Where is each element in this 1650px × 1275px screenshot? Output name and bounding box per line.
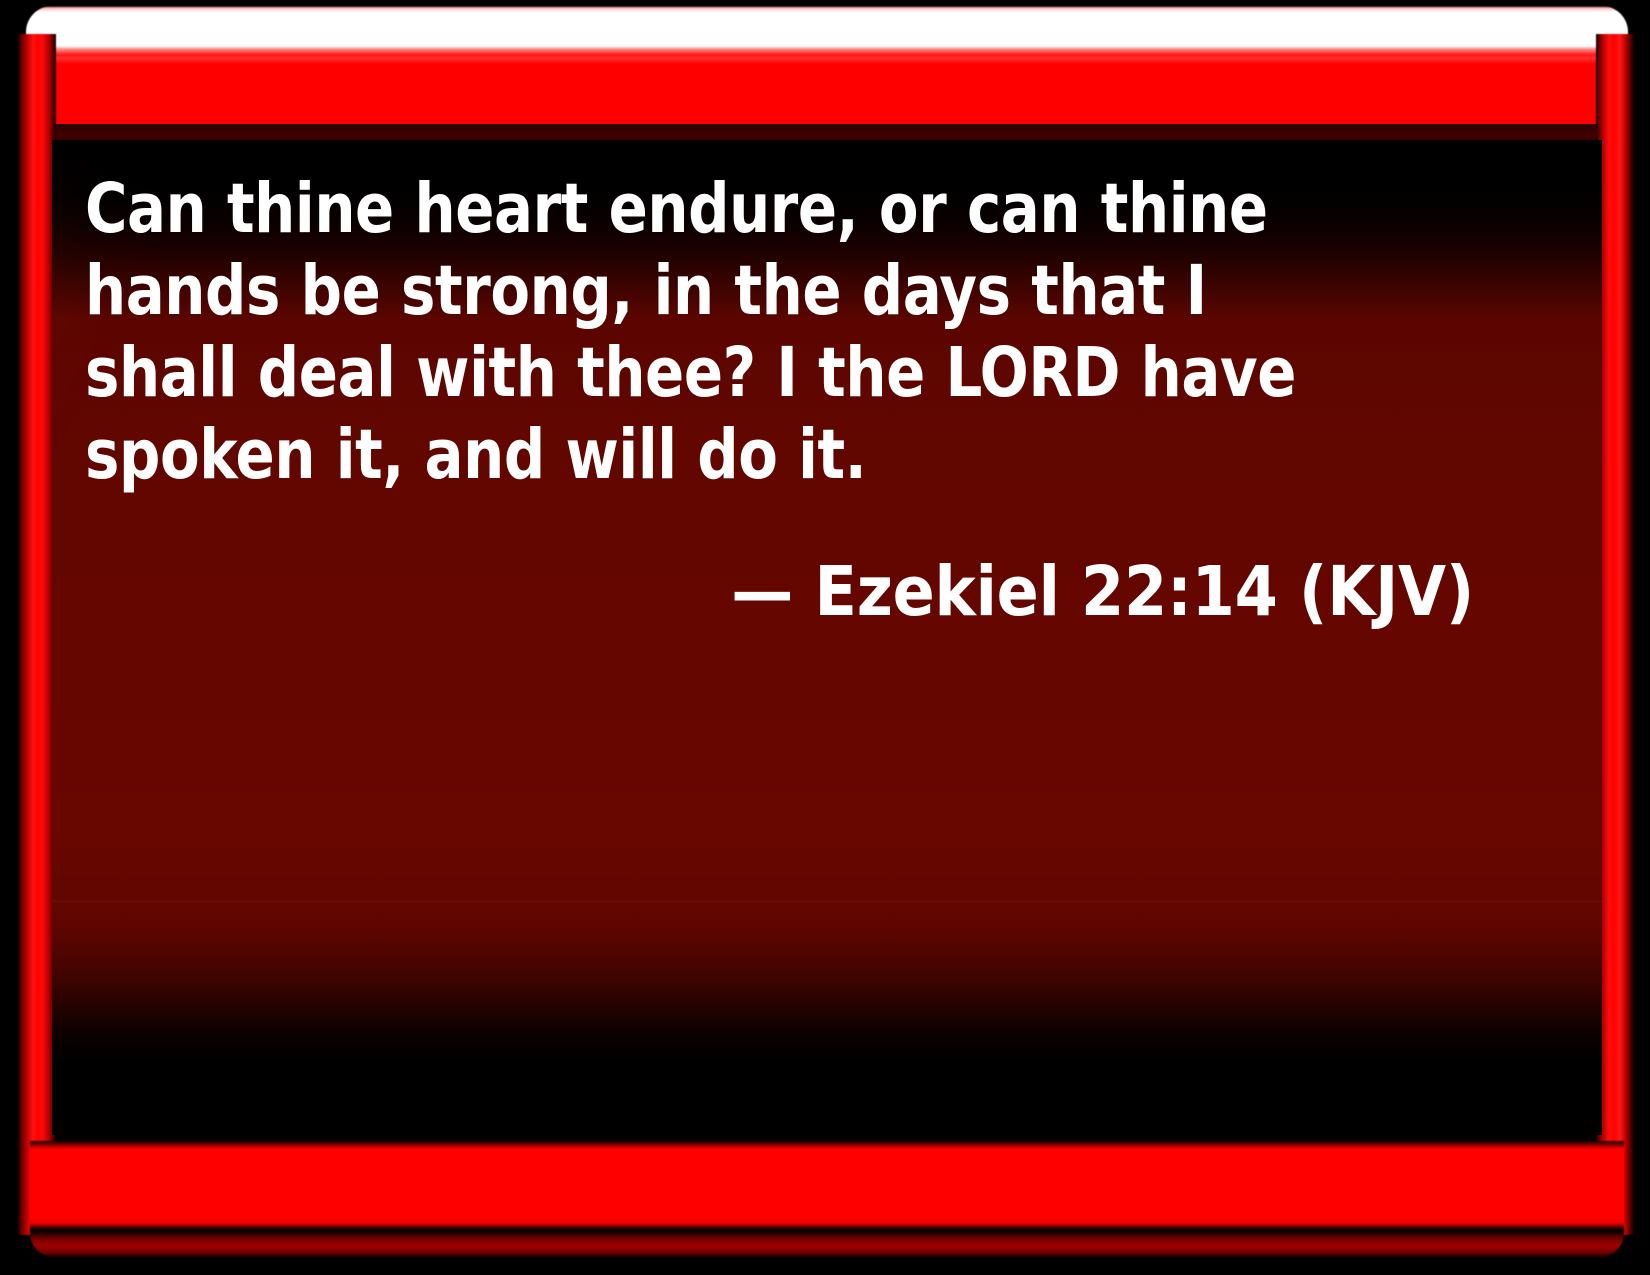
- frame-bevel-bottom: [30, 1141, 1624, 1257]
- panel-horizontal-seam: [52, 900, 1602, 903]
- verse-slide: Can thine heart endure, or can thine han…: [0, 0, 1650, 1275]
- verse-attribution: — Ezekiel 22:14 (KJV): [85, 496, 1474, 632]
- slide-panel: Can thine heart endure, or can thine han…: [52, 140, 1602, 1135]
- frame-bevel-left: [18, 34, 56, 1235]
- frame-bevel-top: [26, 6, 1628, 142]
- verse-body-text: Can thine heart endure, or can thine han…: [85, 168, 1377, 496]
- panel-bottom-vignette: [52, 925, 1602, 1135]
- verse-text-block: Can thine heart endure, or can thine han…: [85, 168, 1474, 632]
